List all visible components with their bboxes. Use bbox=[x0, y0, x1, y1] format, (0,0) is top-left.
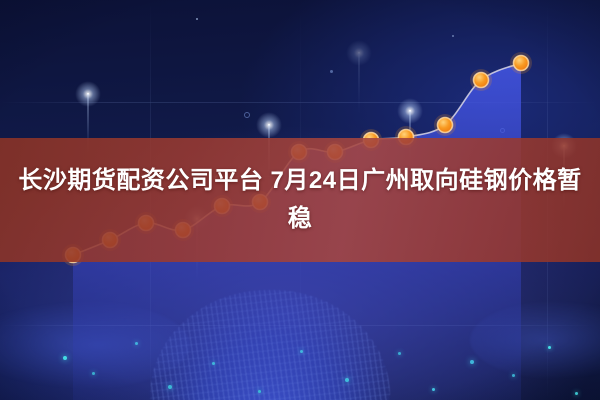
vignette-overlay bbox=[0, 0, 600, 400]
promo-banner-image: 长沙期货配资公司平台 7月24日广州取向硅钢价格暂稳 bbox=[0, 0, 600, 400]
